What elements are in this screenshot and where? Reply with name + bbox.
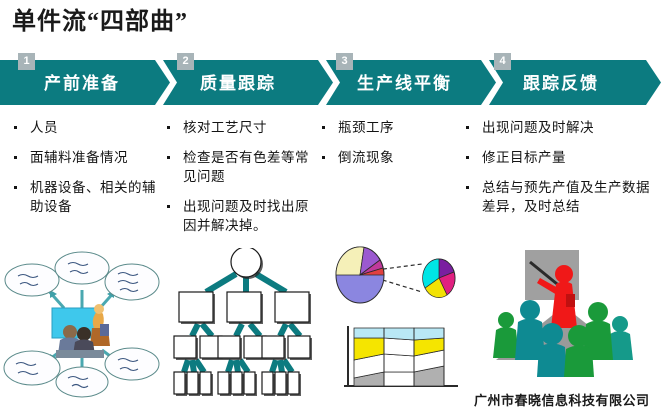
page-title: 单件流“四部曲” bbox=[12, 1, 188, 36]
bullet-column-1: 人员 面辅料准备情况 机器设备、相关的辅助设备 bbox=[10, 118, 162, 227]
chevron-label-2: 质量跟踪 bbox=[200, 60, 276, 105]
trainer-presenting-to-audience-illustration bbox=[478, 238, 650, 386]
meeting-with-speech-bubbles-illustration bbox=[2, 246, 162, 398]
step-badge-1: 1 bbox=[18, 53, 35, 70]
chevron-label-3: 生产线平衡 bbox=[357, 60, 452, 105]
pie-chart-with-exploded-detail-illustration bbox=[334, 242, 464, 310]
step-badge-4: 4 bbox=[494, 53, 511, 70]
stacked-area-chart-illustration bbox=[340, 322, 462, 396]
step-badge-3: 3 bbox=[336, 53, 353, 70]
bullet-column-3: 瓶颈工序 倒流现象 bbox=[318, 118, 458, 178]
slide-canvas: 单件流“四部曲” 产前准备 质量跟踪 生产线平衡 跟踪反馈 1 2 3 4 人员… bbox=[0, 0, 661, 412]
bullet-item: 总结与预先产值及生产数据差异，及时总结 bbox=[462, 178, 658, 216]
bullet-item: 人员 bbox=[10, 118, 162, 137]
hierarchy-org-chart-illustration bbox=[172, 248, 320, 400]
footer-company-name: 广州市春晓信息科技有限公司 bbox=[474, 390, 650, 409]
bullet-item: 瓶颈工序 bbox=[318, 118, 458, 137]
step-badge-2: 2 bbox=[177, 53, 194, 70]
bullet-item: 出现问题及时找出原因并解决掉。 bbox=[163, 197, 315, 235]
bullet-item: 出现问题及时解决 bbox=[462, 118, 658, 137]
bullet-item: 机器设备、相关的辅助设备 bbox=[10, 178, 162, 216]
bullet-column-4: 出现问题及时解决 修正目标产量 总结与预先产值及生产数据差异，及时总结 bbox=[462, 118, 658, 227]
bullet-item: 面辅料准备情况 bbox=[10, 148, 162, 167]
bullet-item: 核对工艺尺寸 bbox=[163, 118, 315, 137]
bullet-item: 检查是否有色差等常见问题 bbox=[163, 148, 315, 186]
chevron-label-4: 跟踪反馈 bbox=[523, 60, 599, 105]
bullet-item: 倒流现象 bbox=[318, 148, 458, 167]
bullet-column-2: 核对工艺尺寸 检查是否有色差等常见问题 出现问题及时找出原因并解决掉。 bbox=[163, 118, 315, 246]
chevron-label-1: 产前准备 bbox=[44, 60, 120, 105]
bullet-item: 修正目标产量 bbox=[462, 148, 658, 167]
